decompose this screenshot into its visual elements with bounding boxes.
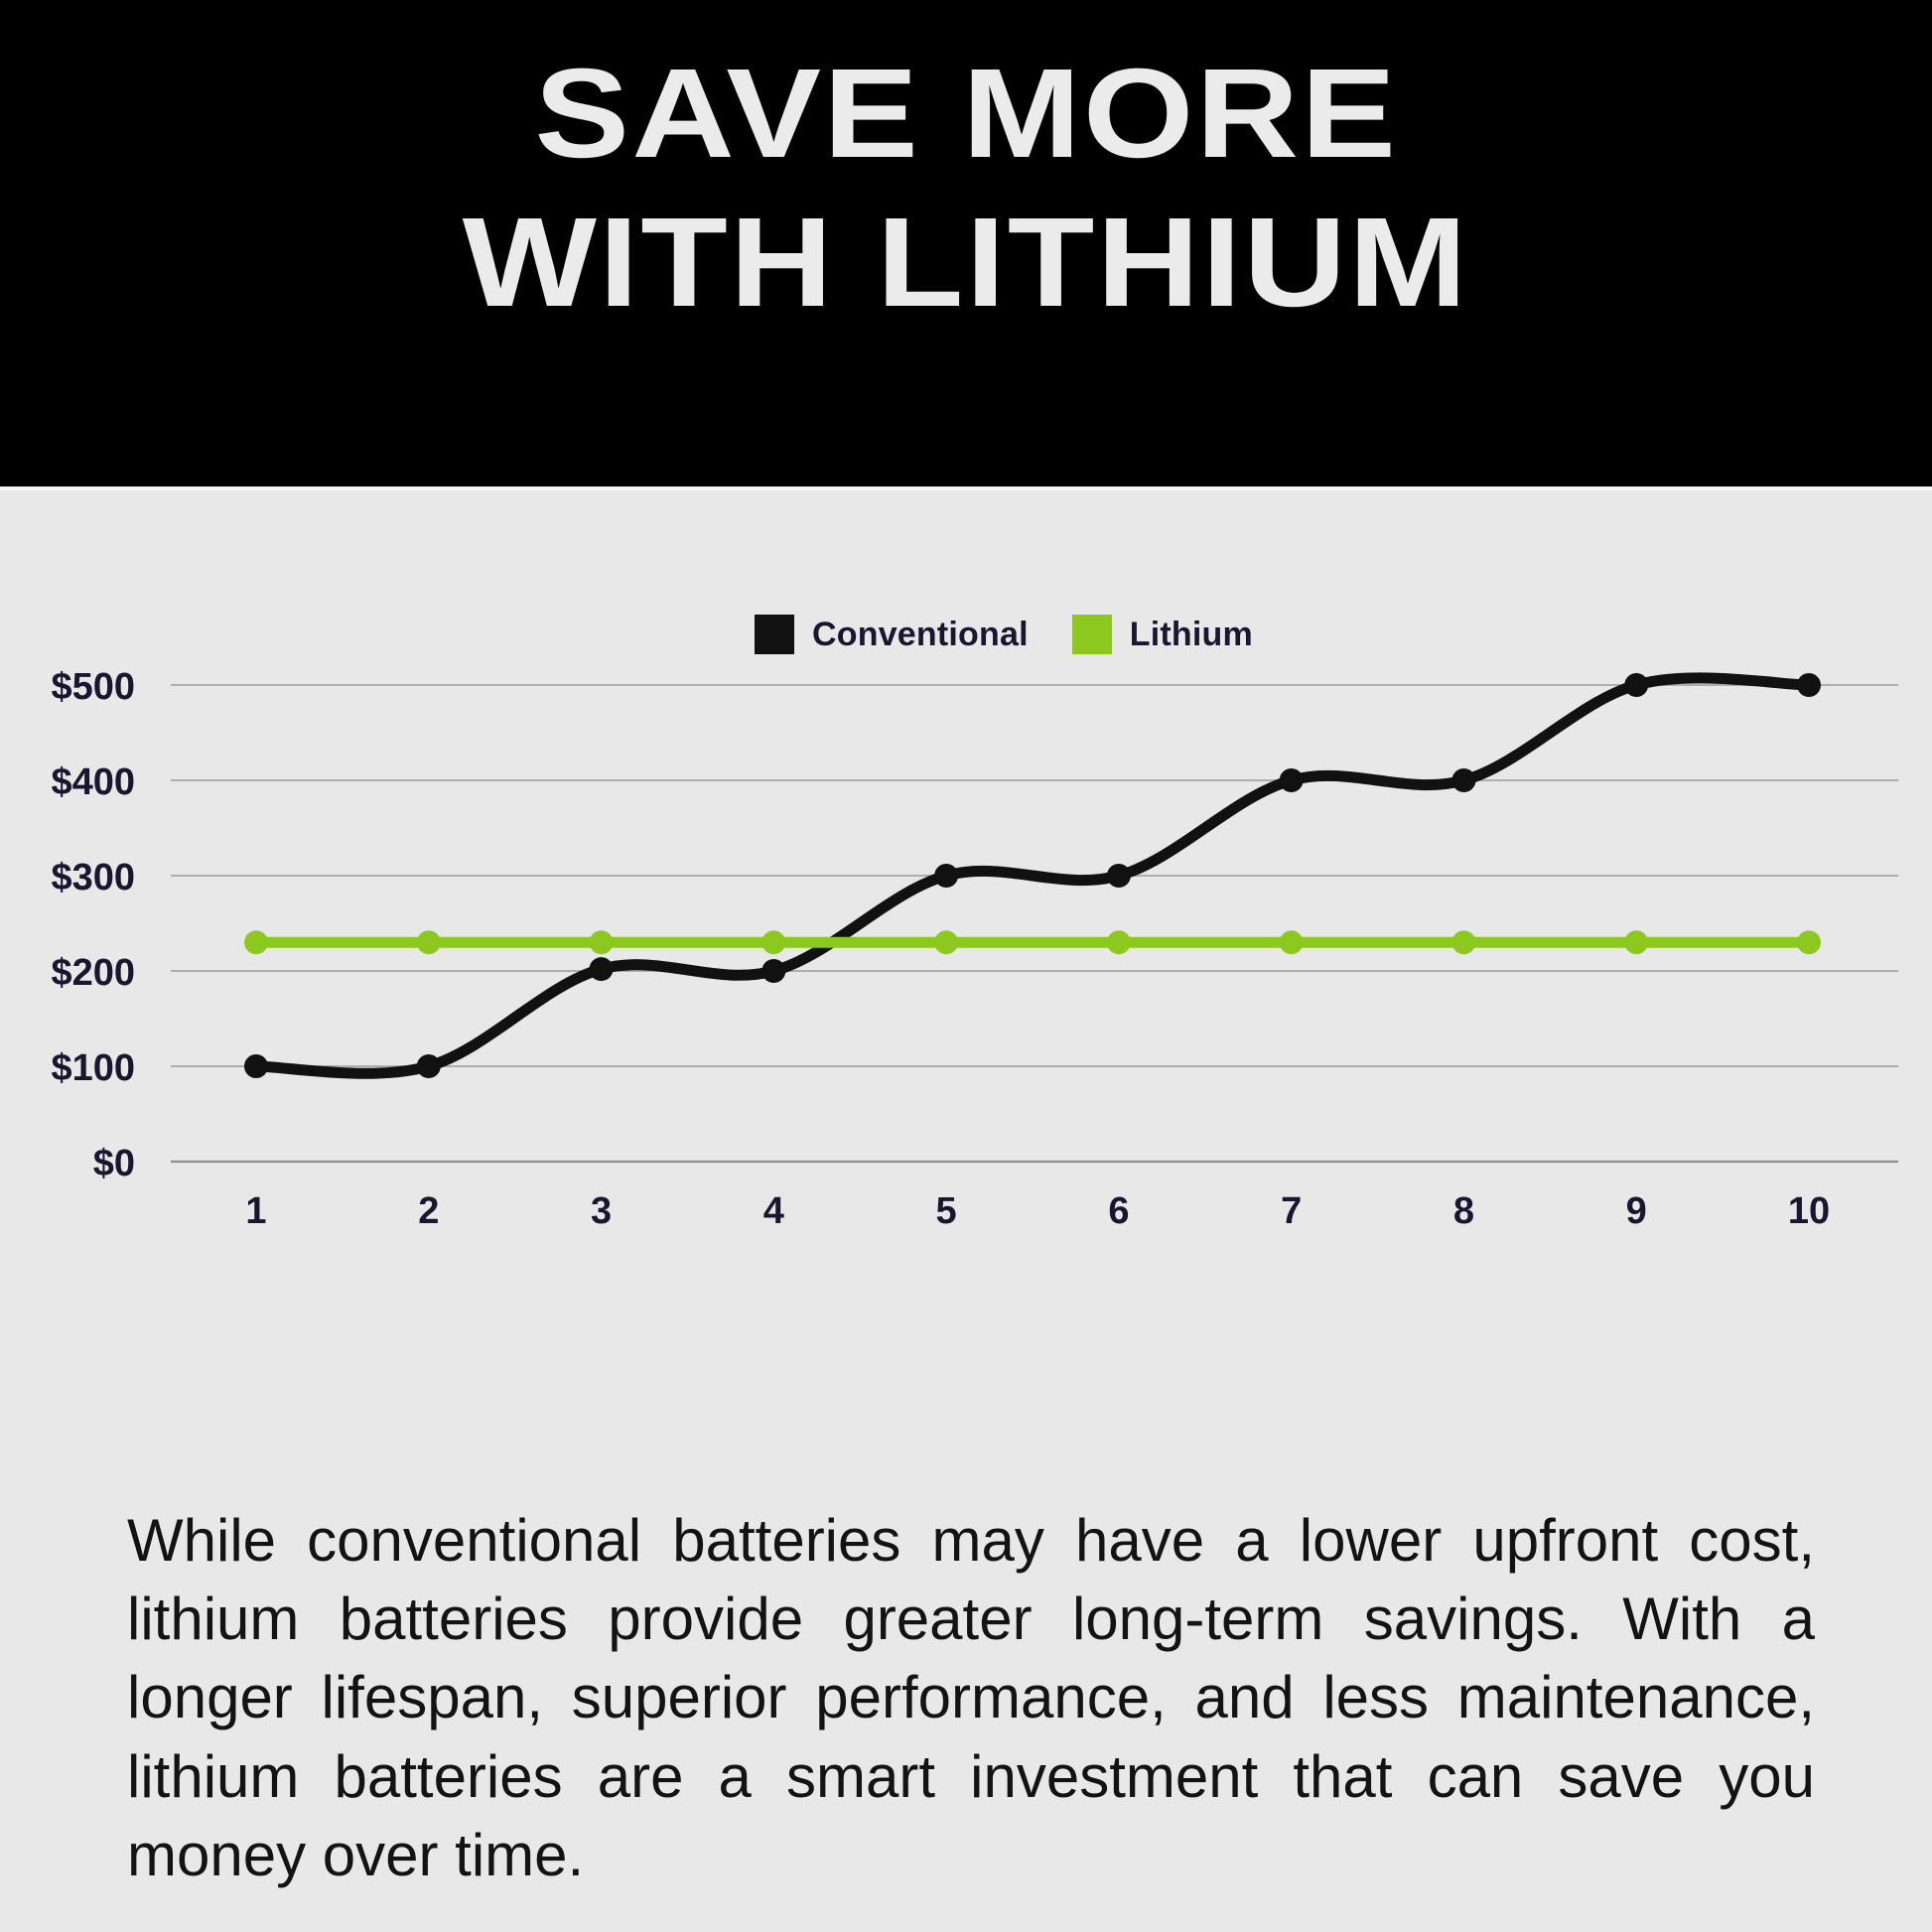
x-tick-label: 7 (1281, 1190, 1302, 1232)
y-tick-label: $0 (93, 1143, 135, 1184)
data-point-marker[interactable] (417, 1054, 441, 1078)
data-point-marker[interactable] (1107, 930, 1131, 954)
data-point-marker[interactable] (1280, 930, 1304, 954)
x-tick-label: 8 (1453, 1190, 1474, 1232)
y-tick-label: $300 (51, 857, 135, 898)
chart-section: Conventional Lithium $0$100$200$300$400$… (0, 490, 1932, 1384)
data-point-marker[interactable] (1107, 864, 1131, 888)
data-point-marker[interactable] (1451, 930, 1475, 954)
x-tick-label: 3 (591, 1190, 612, 1232)
y-tick-label: $400 (51, 761, 135, 803)
data-point-marker[interactable] (417, 930, 441, 954)
data-point-marker[interactable] (761, 959, 785, 983)
data-point-marker[interactable] (1797, 673, 1821, 697)
data-point-marker[interactable] (1624, 930, 1648, 954)
line-chart-svg: $0$100$200$300$400$500 12345678910 (0, 490, 1932, 1384)
data-point-marker[interactable] (1624, 673, 1648, 697)
y-axis-tick-labels: $0$100$200$300$400$500 (51, 666, 135, 1184)
x-tick-label: 6 (1108, 1190, 1129, 1232)
plot-area: $0$100$200$300$400$500 12345678910 (0, 490, 1932, 1384)
data-point-marker[interactable] (244, 930, 268, 954)
y-tick-label: $100 (51, 1047, 135, 1089)
page-title-line-1: SAVE MORE (534, 51, 1398, 178)
data-point-marker[interactable] (934, 930, 958, 954)
x-tick-label: 10 (1788, 1190, 1830, 1232)
data-point-marker[interactable] (590, 930, 614, 954)
y-tick-label: $500 (51, 666, 135, 708)
data-point-marker[interactable] (244, 1054, 268, 1078)
x-tick-label: 4 (763, 1190, 784, 1232)
header-banner: SAVE MORE WITH LITHIUM (0, 0, 1932, 486)
x-tick-label: 9 (1626, 1190, 1647, 1232)
x-tick-label: 5 (936, 1190, 957, 1232)
y-tick-label: $200 (51, 952, 135, 994)
x-tick-label: 2 (418, 1190, 439, 1232)
data-point-marker[interactable] (590, 957, 614, 981)
gridlines (171, 685, 1898, 1162)
data-point-marker[interactable] (761, 930, 785, 954)
data-point-marker[interactable] (1797, 930, 1821, 954)
page-title-line-2: WITH LITHIUM (463, 200, 1469, 327)
body-paragraph: While conventional batteries may have a … (127, 1501, 1815, 1894)
x-tick-label: 1 (245, 1190, 266, 1232)
data-point-marker[interactable] (1280, 768, 1304, 792)
data-point-marker[interactable] (1451, 768, 1475, 792)
data-point-marker[interactable] (934, 864, 958, 888)
x-axis-tick-labels: 12345678910 (245, 1190, 1830, 1232)
